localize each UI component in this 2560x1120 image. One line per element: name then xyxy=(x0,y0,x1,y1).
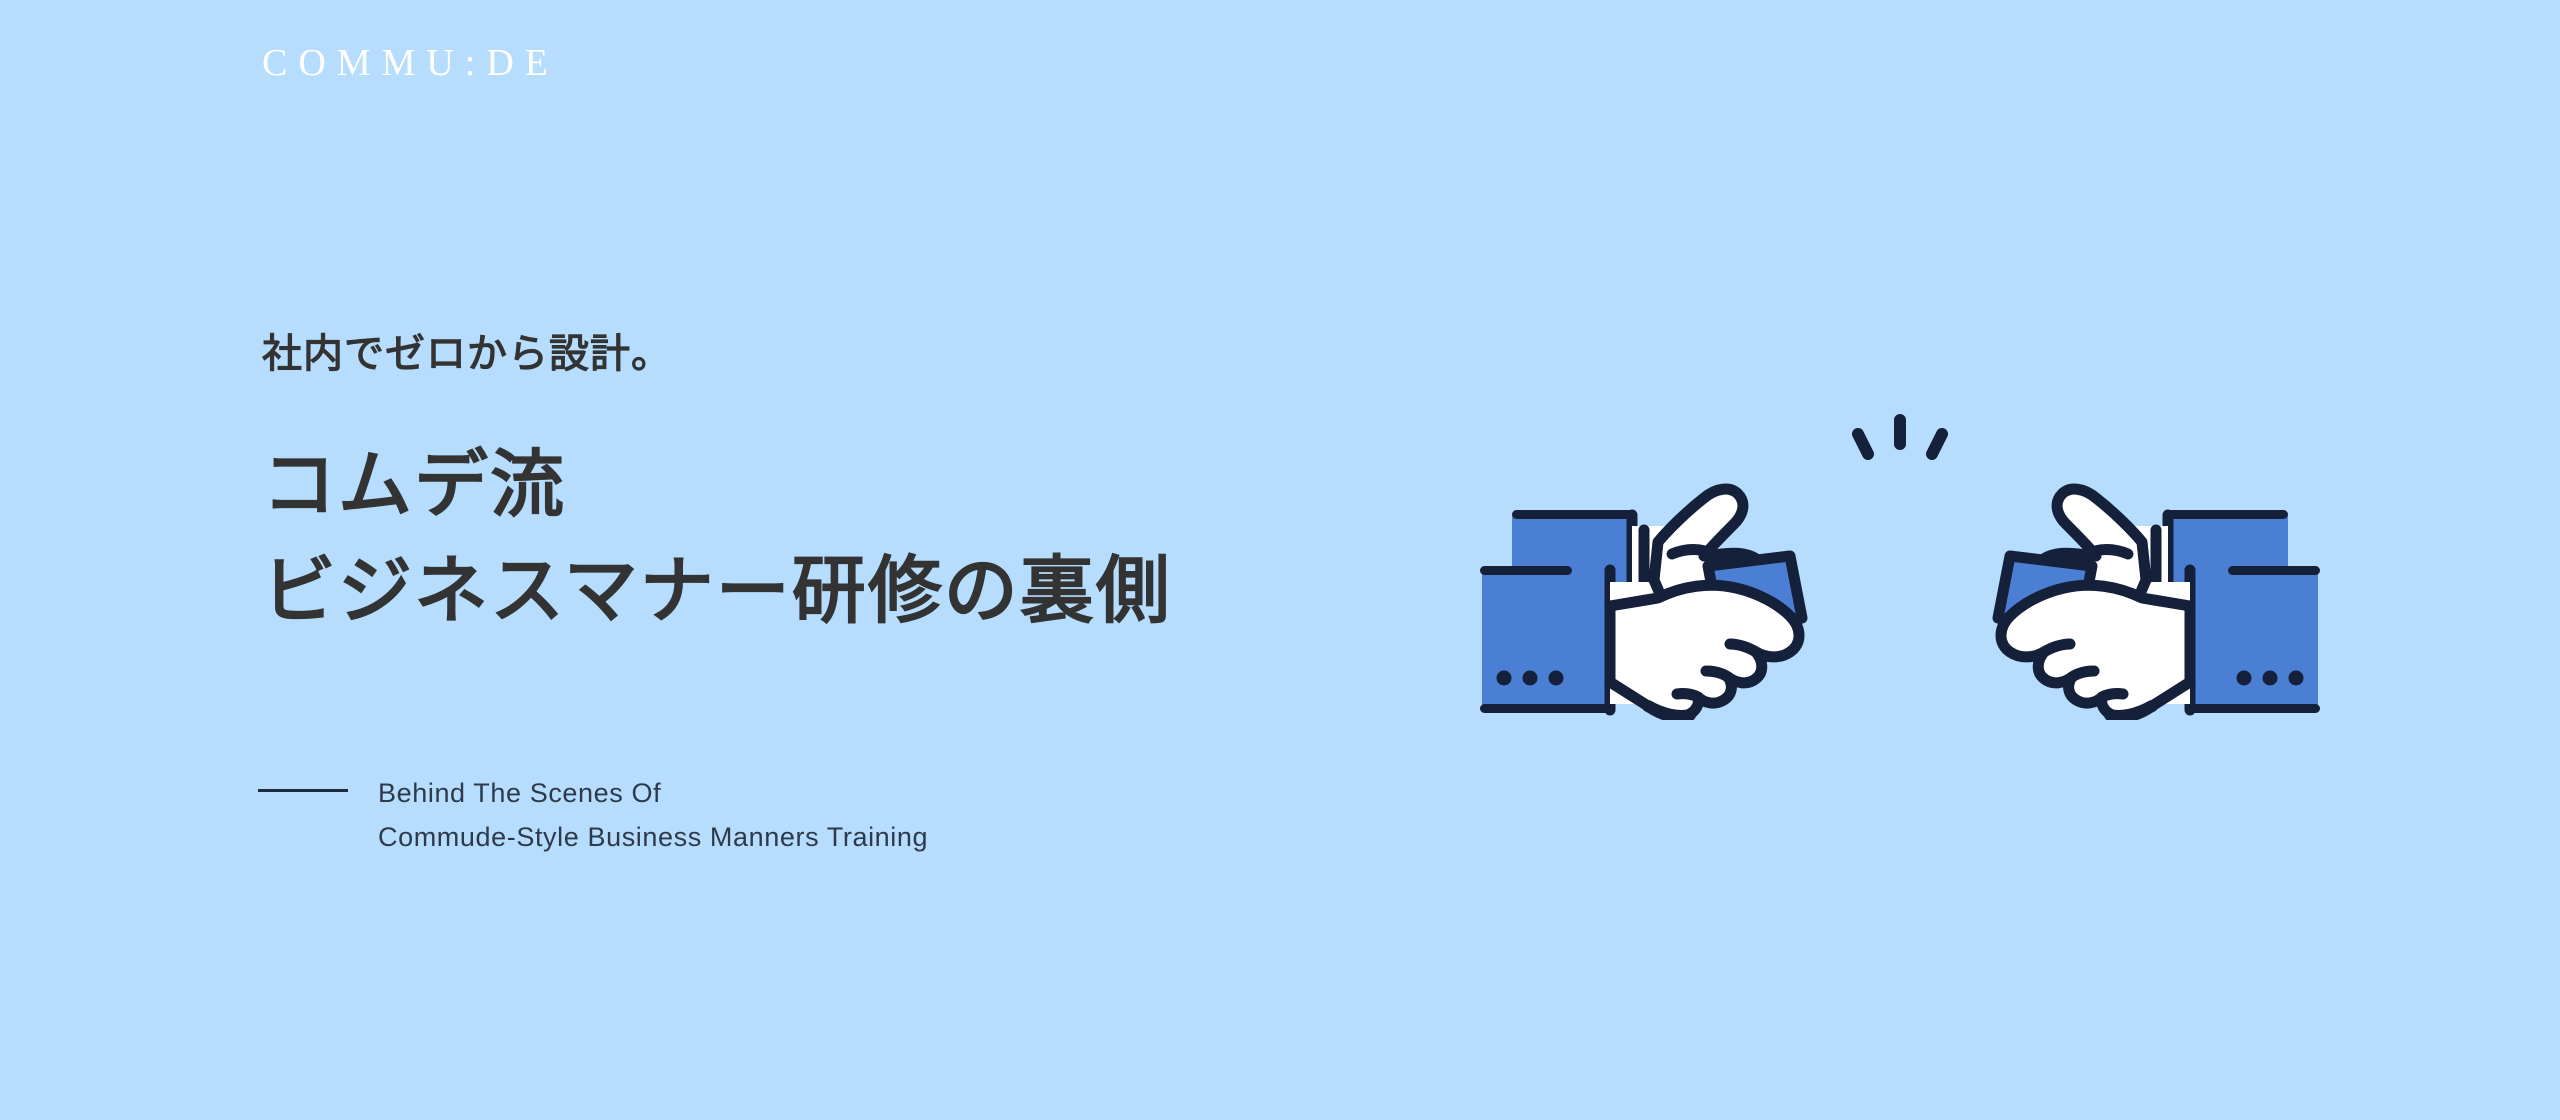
hero-subtitle-block: Behind The Scenes Of Commude-Style Busin… xyxy=(258,772,928,859)
brand-logo[interactable]: COMMU:DE xyxy=(262,44,559,82)
page-title-line-1: コムデ流 xyxy=(262,440,1412,530)
hero-eyebrow: 社内でゼロから設計。 xyxy=(262,330,1412,378)
hero-copy-block: 社内でゼロから設計。 コムデ流 ビジネスマナー研修の裏側 xyxy=(262,330,1412,637)
left-person-illustration xyxy=(1480,489,1802,717)
hero-subtitle-line-1: Behind The Scenes Of xyxy=(378,772,928,816)
divider-rule xyxy=(258,789,348,792)
right-person-illustration xyxy=(1998,489,2320,717)
page-title-line-2: ビジネスマナー研修の裏側 xyxy=(262,546,1412,636)
hero-subtitle-line-2: Commude-Style Business Manners Training xyxy=(378,816,928,860)
emphasis-marks-icon xyxy=(1858,420,1942,454)
business-card-exchange-illustration: .suit { fill: #4a7fd4; } .cuff { fill: #… xyxy=(1450,400,2350,720)
hero-banner: COMMU:DE 社内でゼロから設計。 コムデ流 ビジネスマナー研修の裏側 Be… xyxy=(0,0,2560,1120)
page-title: コムデ流 ビジネスマナー研修の裏側 xyxy=(262,440,1412,637)
hero-subtitle: Behind The Scenes Of Commude-Style Busin… xyxy=(378,772,928,859)
